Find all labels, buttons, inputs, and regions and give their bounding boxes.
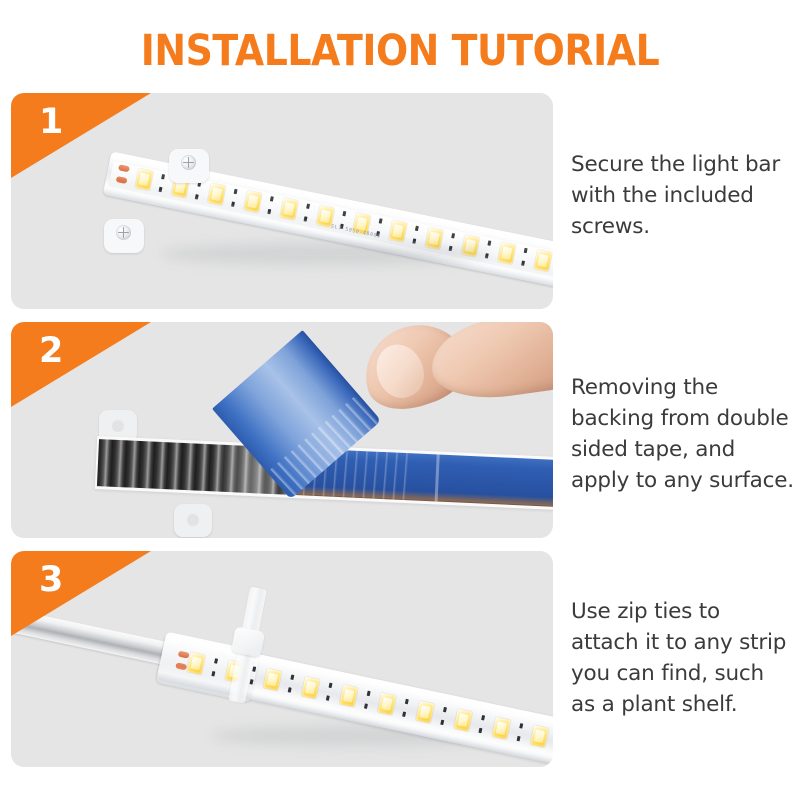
phillips-screw-icon [181, 155, 196, 170]
led-chip [187, 652, 206, 675]
led-chip [530, 725, 549, 748]
led-resistor [411, 224, 421, 245]
phillips-screw-icon [116, 225, 131, 240]
page-title: INSTALLATION TUTORIAL [48, 26, 752, 76]
led-resistor [401, 698, 411, 719]
step-row-1: SL7-5050-4800S 1 Secure the light bar wi… [0, 93, 800, 309]
led-resistor [230, 188, 240, 209]
led-resistor [520, 247, 530, 268]
led-chip [534, 249, 553, 272]
clip-hole [112, 420, 124, 432]
led-resistor [210, 657, 220, 678]
step-3-photo [11, 551, 553, 767]
step-1-description: Secure the light bar with the included s… [553, 93, 800, 242]
step-2-photo [11, 322, 553, 538]
led-chip [377, 693, 396, 716]
led-chip [207, 183, 226, 206]
led-resistor [302, 202, 312, 223]
bar-shadow [161, 243, 491, 265]
step-1-image-card: SL7-5050-4800S 1 [11, 93, 553, 309]
led-light-bar [156, 635, 553, 767]
led-chip [497, 242, 516, 265]
mounting-clip [174, 504, 212, 537]
step-3-image-card: 3 [11, 551, 553, 767]
led-chip [263, 668, 282, 691]
led-chip [389, 220, 408, 243]
zip-tie-head [231, 626, 265, 657]
led-chip [135, 168, 154, 191]
led-resistor [363, 690, 373, 711]
tutorial-page: INSTALLATION TUTORIAL [0, 0, 800, 800]
led-chip [492, 717, 511, 740]
led-resistor [194, 180, 204, 201]
led-chip [301, 676, 320, 699]
led-chip [280, 198, 299, 221]
led-resistor [439, 706, 449, 727]
clip-hole [187, 514, 199, 526]
led-resistor [515, 722, 525, 743]
led-chip [454, 709, 473, 732]
led-resistor [325, 681, 335, 702]
led-resistor [266, 195, 276, 216]
led-resistor [286, 673, 296, 694]
step-row-3: 3 Use zip ties to attach it to any strip… [0, 551, 800, 767]
led-chip [339, 685, 358, 708]
led-resistor [157, 173, 167, 194]
step-row-2: 2 Removing the backing from double sided… [0, 322, 800, 538]
step-1-photo: SL7-5050-4800S [11, 93, 553, 309]
step-3-description: Use zip ties to attach it to any strip y… [553, 551, 800, 720]
step-2-image-card: 2 [11, 322, 553, 538]
led-resistor [477, 714, 487, 735]
led-chip [244, 190, 263, 213]
led-chip [416, 701, 435, 724]
step-2-description: Removing the backing from double sided t… [553, 322, 800, 496]
